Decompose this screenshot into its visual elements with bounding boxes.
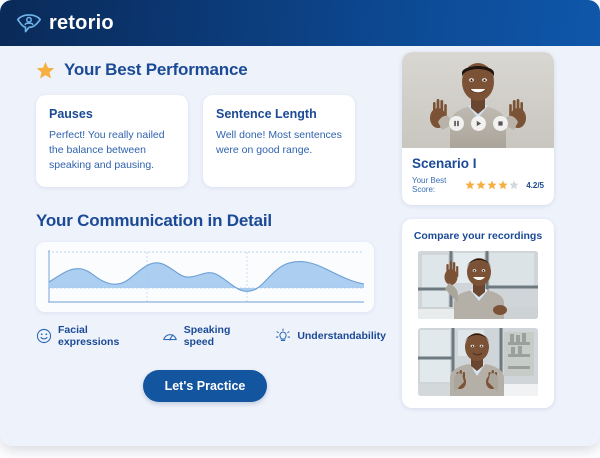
star-icon-filled: [476, 180, 486, 190]
star-rating: [465, 180, 519, 190]
brand-name: retorio: [49, 12, 114, 35]
stop-icon: [497, 120, 504, 127]
feedback-card-title: Sentence Length: [216, 107, 342, 121]
scenario-meta: Scenario I Your Best Score: 4.2/5: [402, 148, 554, 205]
feedback-card-sentence-length: Sentence Length Well done! Most sentence…: [203, 95, 355, 187]
scenario-card[interactable]: Scenario I Your Best Score: 4.2/5: [402, 52, 554, 205]
brand-logo[interactable]: retorio: [16, 12, 114, 35]
feedback-card-body: Well done! Most sentences were on good r…: [216, 128, 342, 158]
star-icon: [36, 61, 55, 80]
page-body: Your Best Performance Pauses Perfect! Yo…: [0, 46, 600, 446]
play-icon: [475, 120, 482, 127]
star-icon-filled: [487, 180, 497, 190]
speedometer-icon: [162, 328, 178, 344]
recording-thumbnail-1[interactable]: [418, 251, 538, 319]
recording-thumbnail-2[interactable]: [418, 328, 538, 396]
right-column: Scenario I Your Best Score: 4.2/5: [402, 52, 554, 408]
scenario-score-row: Your Best Score: 4.2/5: [412, 176, 544, 194]
section-title: Your Communication in Detail: [36, 211, 272, 231]
legend-label: Understandability: [297, 330, 386, 342]
score-value: 4.2/5: [526, 181, 544, 190]
pause-icon: [453, 120, 460, 127]
legend-item-speaking-speed[interactable]: Speaking speed: [162, 324, 250, 348]
lets-practice-button[interactable]: Let's Practice: [143, 370, 268, 402]
compare-title: Compare your recordings: [412, 230, 544, 242]
chart-legend: Facial expressions Speaking speed: [36, 324, 386, 348]
communication-chart: [36, 242, 374, 312]
communication-detail-heading: Your Communication in Detail: [36, 211, 386, 231]
stop-button[interactable]: [493, 116, 508, 131]
legend-item-facial-expressions[interactable]: Facial expressions: [36, 324, 136, 348]
retorio-eye-logo-icon: [16, 12, 42, 34]
play-button[interactable]: [471, 116, 486, 131]
compare-recordings-card: Compare your recordings: [402, 219, 554, 408]
feedback-card-pauses: Pauses Perfect! You really nailed the ba…: [36, 95, 188, 187]
legend-label: Facial expressions: [58, 324, 136, 348]
feedback-card-title: Pauses: [49, 107, 175, 121]
app-window: retorio Your Best Performance Pauses Per…: [0, 0, 600, 446]
legend-label: Speaking speed: [184, 324, 250, 348]
score-label: Your Best Score:: [412, 176, 460, 194]
scenario-title: Scenario I: [412, 156, 544, 171]
legend-item-understandability[interactable]: Understandability: [275, 328, 386, 344]
best-performance-heading: Your Best Performance: [36, 60, 386, 80]
star-icon-filled: [465, 180, 475, 190]
star-icon-filled: [498, 180, 508, 190]
feedback-card-list: Pauses Perfect! You really nailed the ba…: [36, 95, 386, 187]
left-column: Your Best Performance Pauses Perfect! Yo…: [36, 60, 386, 402]
smiley-face-icon: [36, 328, 52, 344]
scenario-video-preview[interactable]: [402, 52, 554, 148]
communication-area-chart: [36, 242, 374, 312]
page-title: Your Best Performance: [64, 60, 248, 80]
cta-container: Let's Practice: [36, 370, 374, 402]
pause-button[interactable]: [449, 116, 464, 131]
star-icon-empty: [509, 180, 519, 190]
video-controls: [402, 116, 554, 131]
lightbulb-icon: [275, 328, 291, 344]
recording-thumbnail-2-image: [418, 328, 538, 396]
recording-thumbnail-1-image: [418, 251, 538, 319]
feedback-card-body: Perfect! You really nailed the balance b…: [49, 128, 175, 173]
scenario-video-image: [402, 52, 554, 148]
app-header: retorio: [0, 0, 600, 46]
